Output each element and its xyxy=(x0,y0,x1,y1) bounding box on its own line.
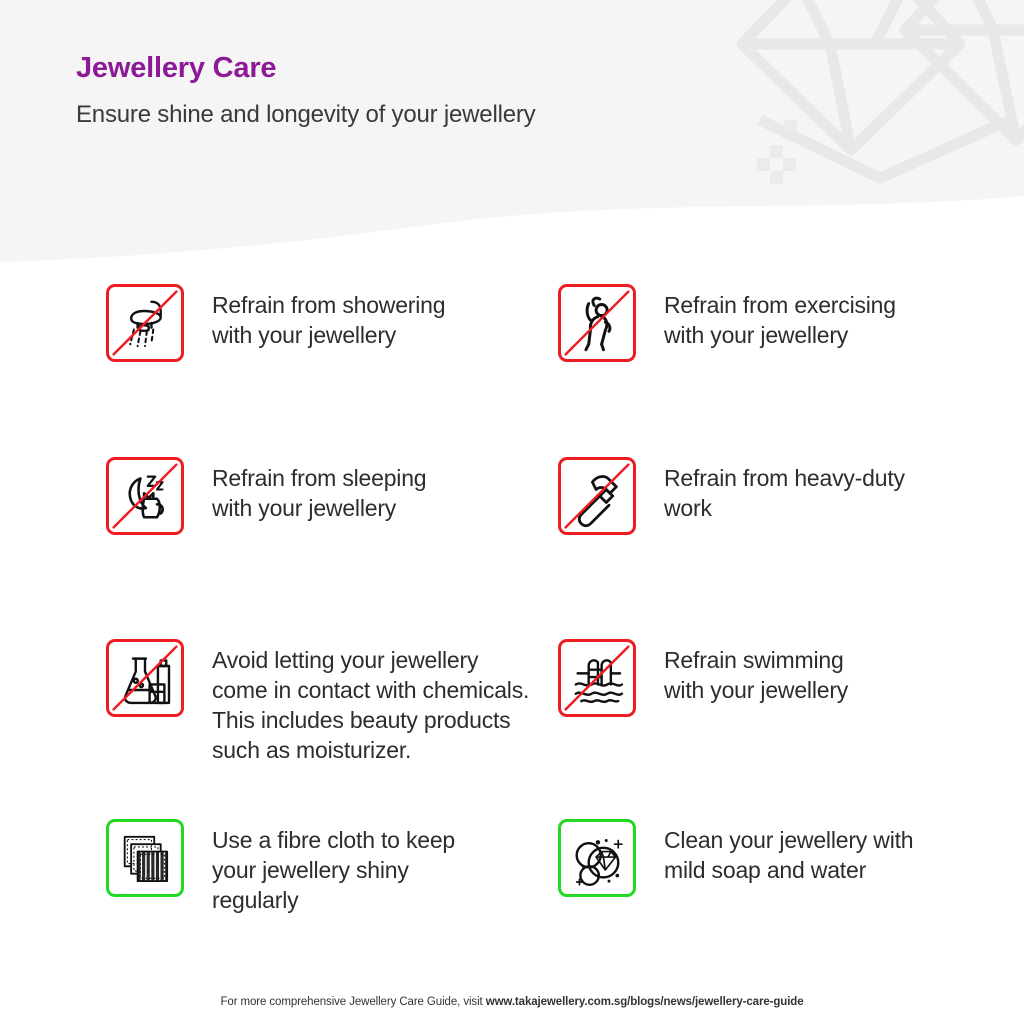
care-item: Refrain from showering with your jewelle… xyxy=(106,284,445,362)
footer-url: www.takajewellery.com.sg/blogs/news/jewe… xyxy=(486,996,804,1008)
gem-soap-bubbles-icon xyxy=(561,822,633,894)
forbidden-icon-frame xyxy=(106,457,184,535)
care-item-text: Refrain from sleeping with your jeweller… xyxy=(212,457,426,523)
care-item: Use a fibre cloth to keep your jewellery… xyxy=(106,819,455,915)
care-item: Refrain from sleeping with your jeweller… xyxy=(106,457,426,535)
care-item: Avoid letting your jewellery come in con… xyxy=(106,639,529,765)
care-item-text: Refrain swimming with your jewellery xyxy=(664,639,848,705)
header-text-block: Jewellery Care Ensure shine and longevit… xyxy=(76,52,535,129)
hammer-icon xyxy=(561,460,633,532)
footer-prefix: For more comprehensive Jewellery Care Gu… xyxy=(220,996,485,1008)
care-item-text: Clean your jewellery with mild soap and … xyxy=(664,819,913,885)
shower-icon xyxy=(109,287,181,359)
page-title: Jewellery Care xyxy=(76,52,535,85)
care-item: Refrain from heavy-duty work xyxy=(558,457,905,535)
header-background-shape xyxy=(0,0,1024,262)
page-subtitle: Ensure shine and longevity of your jewel… xyxy=(76,101,535,129)
care-item-text: Avoid letting your jewellery come in con… xyxy=(212,639,529,765)
care-item: Clean your jewellery with mild soap and … xyxy=(558,819,913,897)
forbidden-icon-frame xyxy=(558,457,636,535)
allowed-icon-frame xyxy=(558,819,636,897)
care-item-text: Refrain from heavy-duty work xyxy=(664,457,905,523)
care-item-text: Use a fibre cloth to keep your jewellery… xyxy=(212,819,455,915)
infographic-page: Jewellery Care Ensure shine and longevit… xyxy=(0,0,1024,1024)
care-item: Refrain swimming with your jewellery xyxy=(558,639,848,717)
exercising-person-icon xyxy=(561,287,633,359)
care-item-text: Refrain from showering with your jewelle… xyxy=(212,284,445,350)
care-item-text: Refrain from exercising with your jewell… xyxy=(664,284,896,350)
forbidden-icon-frame xyxy=(106,284,184,362)
forbidden-icon-frame xyxy=(106,639,184,717)
swimming-pool-ladder-icon xyxy=(561,642,633,714)
sleeping-moon-cat-icon xyxy=(109,460,181,532)
fibre-cloth-stack-icon xyxy=(109,822,181,894)
footer-note: For more comprehensive Jewellery Care Gu… xyxy=(0,996,1024,1008)
allowed-icon-frame xyxy=(106,819,184,897)
forbidden-icon-frame xyxy=(558,639,636,717)
forbidden-icon-frame xyxy=(558,284,636,362)
care-item: Refrain from exercising with your jewell… xyxy=(558,284,896,362)
chemicals-flask-spray-icon xyxy=(109,642,181,714)
header-banner: Jewellery Care Ensure shine and longevit… xyxy=(0,0,1024,262)
